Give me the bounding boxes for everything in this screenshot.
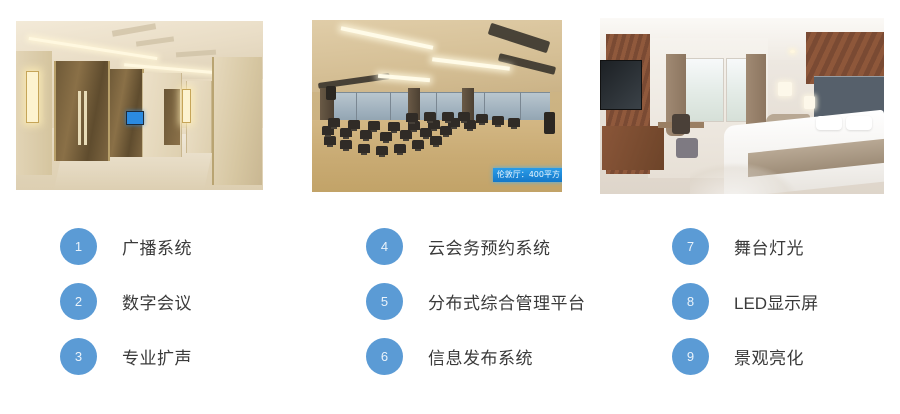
wall-sconce-icon — [26, 71, 39, 123]
hall-chair — [380, 132, 392, 141]
photo-gallery-row: 伦敦厅：400平方 — [0, 0, 900, 200]
hall-chair — [388, 122, 400, 131]
list-item-label: 分布式综合管理平台 — [428, 289, 586, 314]
elevator-lobby-photo — [16, 21, 263, 190]
list-item-label: 信息发布系统 — [428, 344, 533, 369]
list-item[interactable]: 6 信息发布系统 — [306, 334, 533, 378]
hall-chair — [348, 120, 360, 129]
hall-chair — [358, 144, 370, 153]
list-item-number-badge: 1 — [60, 228, 97, 265]
hall-speaker-icon — [326, 86, 336, 100]
hall-chair — [492, 116, 504, 125]
hall-chair — [430, 136, 442, 145]
room-downlight — [790, 50, 795, 53]
list-item-number-badge: 4 — [366, 228, 403, 265]
hall-chair — [340, 140, 352, 149]
hall-room-label-badge: 伦敦厅：400平方 — [493, 168, 562, 182]
hall-chair — [428, 120, 440, 129]
room-floor-lamp — [778, 82, 792, 96]
hall-chair — [408, 121, 420, 130]
lobby-right-column — [212, 57, 262, 185]
hall-window-mullion — [390, 92, 391, 122]
room-bedside-lamp — [804, 96, 815, 109]
feature-column-2: 4 云会务预约系统 5 分布式综合管理平台 6 信息发布系统 — [306, 213, 606, 414]
list-item[interactable]: 4 云会务预约系统 — [306, 224, 551, 268]
feature-column-3: 7 舞台灯光 8 LED显示屏 9 景观亮化 — [612, 213, 900, 414]
list-item[interactable]: 2 数字会议 — [0, 279, 192, 323]
hall-chair — [324, 136, 336, 145]
hall-chair — [368, 121, 380, 130]
room-rug — [690, 162, 800, 194]
elevator-door — [54, 61, 110, 161]
elevator-door-handle — [84, 91, 87, 145]
list-item-number-badge: 9 — [672, 338, 709, 375]
hall-chair — [376, 146, 388, 155]
hall-chair — [394, 144, 406, 153]
list-item-label: 专业扩声 — [122, 344, 192, 369]
list-item-label: 广播系统 — [122, 234, 192, 259]
room-ottoman — [676, 138, 698, 158]
elevator-lobby-photo-art — [16, 21, 263, 190]
hall-chair — [458, 112, 470, 121]
room-pillow — [816, 116, 842, 130]
list-item-number-badge: 7 — [672, 228, 709, 265]
guest-room-photo — [600, 18, 884, 194]
hall-window-mullion — [436, 92, 437, 122]
list-item-number-badge: 8 — [672, 283, 709, 320]
list-item[interactable]: 5 分布式综合管理平台 — [306, 279, 586, 323]
list-item-number-badge: 6 — [366, 338, 403, 375]
hall-chair — [360, 130, 372, 139]
hall-chair — [442, 112, 454, 121]
hall-chair — [328, 118, 340, 127]
elevator-door-far — [164, 89, 180, 145]
wall-sconce-icon — [182, 89, 191, 123]
list-item-label: LED显示屏 — [734, 289, 818, 314]
conference-hall-photo: 伦敦厅：400平方 — [312, 20, 562, 192]
list-item[interactable]: 9 景观亮化 — [612, 334, 804, 378]
list-item[interactable]: 7 舞台灯光 — [612, 224, 804, 268]
list-item-number-badge: 5 — [366, 283, 403, 320]
hall-chair — [322, 126, 334, 135]
list-item[interactable]: 3 专业扩声 — [0, 334, 192, 378]
room-window — [684, 58, 724, 122]
list-item-label: 数字会议 — [122, 289, 192, 314]
hall-chair — [424, 112, 436, 121]
list-item-label: 景观亮化 — [734, 344, 804, 369]
hall-window-mullion — [356, 92, 357, 122]
room-desk-chair — [672, 114, 690, 134]
hall-chair — [464, 120, 476, 129]
guest-room-photo-art — [600, 18, 884, 194]
hall-speaker-icon — [544, 112, 555, 134]
room-television — [600, 60, 642, 110]
room-credenza — [602, 126, 664, 170]
hall-chair — [476, 114, 488, 123]
list-item-number-badge: 2 — [60, 283, 97, 320]
room-pillow — [846, 116, 872, 130]
elevator-door-handle — [78, 91, 81, 145]
hall-chair — [340, 128, 352, 137]
page-root: 伦敦厅：400平方 — [0, 0, 900, 414]
hall-chair — [440, 126, 452, 135]
feature-column-1: 1 广播系统 2 数字会议 3 专业扩声 — [0, 213, 300, 414]
lobby-info-display-screen — [126, 111, 144, 125]
hall-window-mullion — [520, 92, 521, 122]
hall-chair — [508, 118, 520, 127]
list-item-label: 云会务预约系统 — [428, 234, 551, 259]
list-item-label: 舞台灯光 — [734, 234, 804, 259]
hall-chair — [412, 140, 424, 149]
list-item-number-badge: 3 — [60, 338, 97, 375]
list-item[interactable]: 1 广播系统 — [0, 224, 192, 268]
hall-chair — [406, 113, 418, 122]
list-item[interactable]: 8 LED显示屏 — [612, 279, 818, 323]
hall-chair — [400, 130, 412, 139]
feature-list-grid: 1 广播系统 2 数字会议 3 专业扩声 4 云会务预约系统 5 分布式综合管理… — [0, 213, 900, 414]
conference-hall-photo-art: 伦敦厅：400平方 — [312, 20, 562, 192]
hall-chair — [420, 128, 432, 137]
